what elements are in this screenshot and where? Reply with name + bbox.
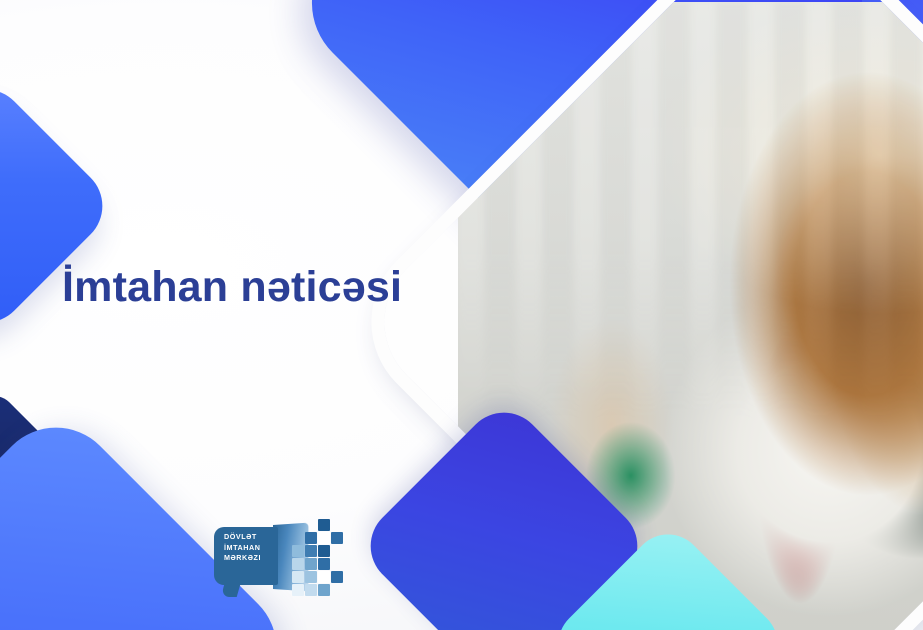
logo-wordmark: Dövlət İmtahan Mərkəzi (224, 532, 261, 564)
logo-mosaic-cell (292, 571, 304, 583)
logo-mosaic-cell (292, 584, 304, 596)
logo-mosaic-cell (318, 584, 330, 596)
logo-mosaic-cell (318, 545, 330, 557)
logo-mosaic-cell (292, 519, 304, 531)
logo-mosaic-cell (305, 584, 317, 596)
logo-mosaic-cell (331, 519, 343, 531)
logo-mosaic-cell (331, 545, 343, 557)
page-title: İmtahan nəticəsi (62, 263, 402, 312)
logo-mosaic-cell (305, 545, 317, 557)
logo-mosaic-cell (305, 571, 317, 583)
logo-mosaic-cell (318, 532, 330, 544)
dovlet-imtahan-merkezi-logo[interactable]: Dövlət İmtahan Mərkəzi (214, 517, 342, 601)
logo-mosaic-cell (305, 532, 317, 544)
logo-mosaic-cell (318, 558, 330, 570)
banner-canvas: İmtahan nəticəsi Dövlət İmtahan Mərkəzi (0, 0, 923, 630)
logo-mosaic-cell (292, 532, 304, 544)
logo-mosaic-cell (331, 532, 343, 544)
logo-mosaic-cell (318, 519, 330, 531)
logo-mosaic-cell (331, 558, 343, 570)
logo-mosaic-cell (331, 584, 343, 596)
logo-line-1: Dövlət (224, 532, 261, 543)
logo-mosaic-cell (292, 558, 304, 570)
logo-line-3: Mərkəzi (224, 553, 261, 564)
logo-mosaic-cell (305, 519, 317, 531)
logo-mosaic-cell (318, 571, 330, 583)
logo-mosaic-cell (331, 571, 343, 583)
logo-pixel-mosaic (292, 519, 342, 593)
logo-line-2: İmtahan (224, 543, 261, 554)
logo-mosaic-cell (292, 545, 304, 557)
logo-mosaic-cell (305, 558, 317, 570)
